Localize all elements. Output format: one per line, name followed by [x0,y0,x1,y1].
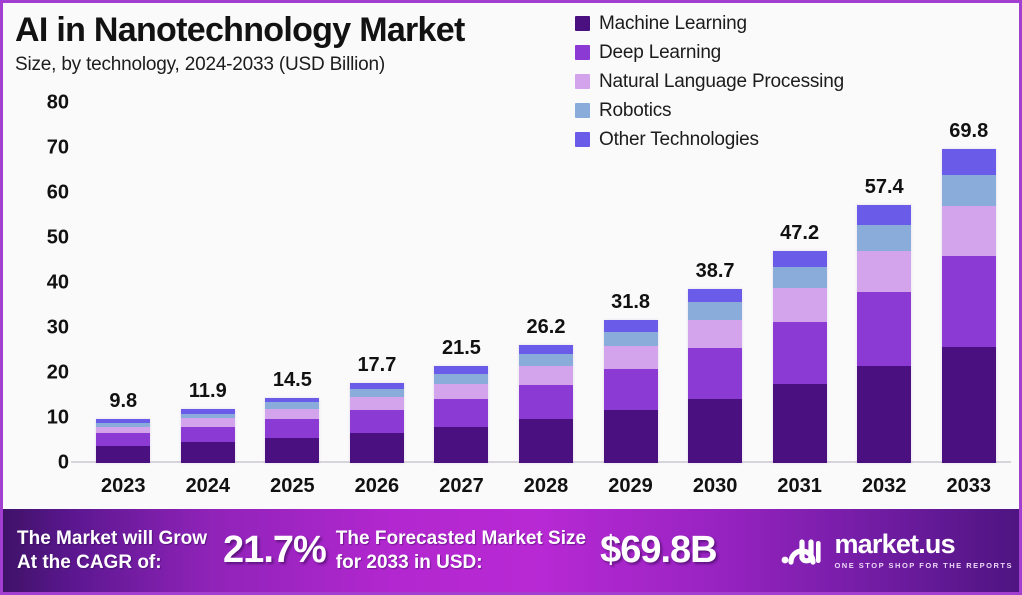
bar-total-label: 57.4 [865,176,904,199]
bar-segment[interactable] [857,205,911,225]
y-axis-tick-label: 10 [47,407,69,430]
bar-column[interactable]: 57.42032 [842,103,927,463]
legend-swatch-icon [575,74,590,89]
x-axis-tick-label: 2033 [946,475,991,498]
plot-region: 01020304050607080 9.8202311.9202414.5202… [81,103,1011,463]
x-axis-tick-label: 2028 [524,475,569,498]
x-axis-tick-label: 2026 [355,475,400,498]
bar-segment[interactable] [857,225,911,251]
x-axis-tick-label: 2029 [608,475,653,498]
bar-segment[interactable] [519,354,573,366]
market-us-logo-icon [780,534,826,568]
bar-column[interactable]: 47.22031 [757,103,842,463]
bar-segment[interactable] [519,419,573,463]
bar-segment[interactable] [434,427,488,463]
brand-logo[interactable]: market.us ONE STOP SHOP FOR THE REPORTS [780,531,1013,570]
stacked-bar[interactable] [96,419,150,463]
bar-total-label: 31.8 [611,291,650,314]
bar-segment[interactable] [181,442,235,463]
forecast-label-line2: for 2033 in USD: [336,551,586,574]
bar-segment[interactable] [604,346,658,369]
bar-segment[interactable] [519,345,573,354]
legend-item[interactable]: Natural Language Processing [575,67,1015,96]
stacked-bar[interactable] [857,205,911,463]
stacked-bar[interactable] [942,149,996,463]
cagr-label: The Market will Grow At the CAGR of: [17,527,207,573]
bar-segment[interactable] [942,175,996,206]
title-block: AI in Nanotechnology Market Size, by tec… [15,13,575,76]
bar-total-label: 47.2 [780,222,819,245]
legend-swatch-icon [575,16,590,31]
bar-segment[interactable] [688,399,742,463]
legend-item-label: Natural Language Processing [599,71,844,93]
bar-segment[interactable] [942,256,996,347]
bar-column[interactable]: 69.82033 [926,103,1011,463]
bar-segment[interactable] [773,251,827,268]
x-axis-tick-label: 2023 [101,475,146,498]
x-axis-tick-label: 2025 [270,475,315,498]
legend-item-label: Machine Learning [599,13,747,35]
legend-item[interactable]: Deep Learning [575,38,1015,67]
bar-column[interactable]: 17.72026 [335,103,420,463]
bar-segment[interactable] [350,433,404,463]
bar-segment[interactable] [519,385,573,419]
cagr-value: 21.7% [223,529,326,572]
bar-segment[interactable] [434,374,488,384]
bar-segment[interactable] [96,427,150,434]
stacked-bar[interactable] [181,409,235,463]
bar-group: 9.8202311.9202414.5202517.7202621.520272… [81,103,1011,463]
bar-segment[interactable] [604,320,658,332]
bar-segment[interactable] [265,409,319,419]
bar-segment[interactable] [350,397,404,410]
legend-swatch-icon [575,45,590,60]
bar-segment[interactable] [434,399,488,427]
bar-column[interactable]: 14.52025 [250,103,335,463]
bar-segment[interactable] [434,366,488,374]
bar-segment[interactable] [857,292,911,367]
stacked-bar[interactable] [265,398,319,463]
stacked-bar[interactable] [350,383,404,463]
bar-segment[interactable] [96,433,150,446]
bar-segment[interactable] [688,289,742,302]
x-axis-tick-label: 2031 [777,475,822,498]
stacked-bar[interactable] [519,345,573,463]
bar-column[interactable]: 38.72030 [673,103,758,463]
bar-segment[interactable] [350,410,404,433]
bar-segment[interactable] [350,389,404,397]
logo-tagline: ONE STOP SHOP FOR THE REPORTS [834,561,1013,570]
bar-segment[interactable] [773,288,827,322]
bar-total-label: 26.2 [527,316,566,339]
bar-total-label: 11.9 [189,380,227,403]
bar-segment[interactable] [519,366,573,385]
legend-item[interactable]: Machine Learning [575,9,1015,38]
bar-total-label: 9.8 [109,390,137,413]
stacked-bar[interactable] [773,251,827,463]
forecast-label-line1: The Forecasted Market Size [336,527,586,550]
bar-segment[interactable] [773,322,827,384]
logo-name: market.us [834,531,1013,558]
bar-total-label: 21.5 [442,337,481,360]
infographic-root: AI in Nanotechnology Market Size, by tec… [0,0,1022,595]
forecast-value: $69.8B [600,529,717,572]
bar-segment[interactable] [604,410,658,463]
y-axis-tick-label: 70 [47,137,69,160]
legend-item-label: Deep Learning [599,42,721,64]
bar-segment[interactable] [942,149,996,175]
bar-segment[interactable] [688,320,742,348]
bar-segment[interactable] [604,332,658,346]
x-axis-tick-label: 2030 [693,475,738,498]
bar-segment[interactable] [942,347,996,463]
bar-segment[interactable] [265,419,319,438]
stacked-bar[interactable] [434,366,488,463]
bar-total-label: 38.7 [696,260,735,283]
forecast-label: The Forecasted Market Size for 2033 in U… [336,527,586,573]
bar-segment[interactable] [434,384,488,399]
y-axis-tick-label: 0 [58,452,69,475]
y-axis-tick-label: 60 [47,182,69,205]
bar-segment[interactable] [857,366,911,463]
x-axis-tick-label: 2024 [186,475,231,498]
bottom-banner: The Market will Grow At the CAGR of: 21.… [3,509,1022,592]
bar-segment[interactable] [773,267,827,288]
page-subtitle: Size, by technology, 2024-2033 (USD Bill… [15,54,575,76]
bar-column[interactable]: 11.92024 [166,103,251,463]
bar-segment[interactable] [688,348,742,399]
stacked-bar[interactable] [688,289,742,463]
stacked-bar[interactable] [604,320,658,463]
bar-segment[interactable] [96,446,150,463]
logo-text-block: market.us ONE STOP SHOP FOR THE REPORTS [834,531,1013,570]
bar-segment[interactable] [181,427,235,442]
bar-total-label: 69.8 [949,120,988,143]
bar-column[interactable]: 31.82029 [588,103,673,463]
bar-column[interactable]: 26.22028 [504,103,589,463]
y-axis-tick-label: 20 [47,362,69,385]
y-axis-tick-label: 40 [47,272,69,295]
bar-column[interactable]: 9.82023 [81,103,166,463]
bar-segment[interactable] [604,369,658,410]
x-axis-tick-label: 2032 [862,475,907,498]
bar-total-label: 17.7 [357,354,396,377]
bar-segment[interactable] [265,438,319,463]
page-title: AI in Nanotechnology Market [15,13,575,49]
bar-segment[interactable] [857,251,911,292]
bar-segment[interactable] [942,206,996,256]
cagr-label-line1: The Market will Grow [17,527,207,550]
y-axis-tick-label: 80 [47,92,69,115]
x-axis-tick-label: 2027 [439,475,484,498]
chart-area: AI in Nanotechnology Market Size, by tec… [3,3,1022,515]
y-axis-tick-label: 30 [47,317,69,340]
bar-segment[interactable] [688,302,742,320]
cagr-label-line2: At the CAGR of: [17,551,207,574]
bar-total-label: 14.5 [273,369,312,392]
bar-segment[interactable] [181,418,235,427]
bar-segment[interactable] [773,384,827,463]
y-axis-tick-label: 50 [47,227,69,250]
bar-column[interactable]: 21.52027 [419,103,504,463]
